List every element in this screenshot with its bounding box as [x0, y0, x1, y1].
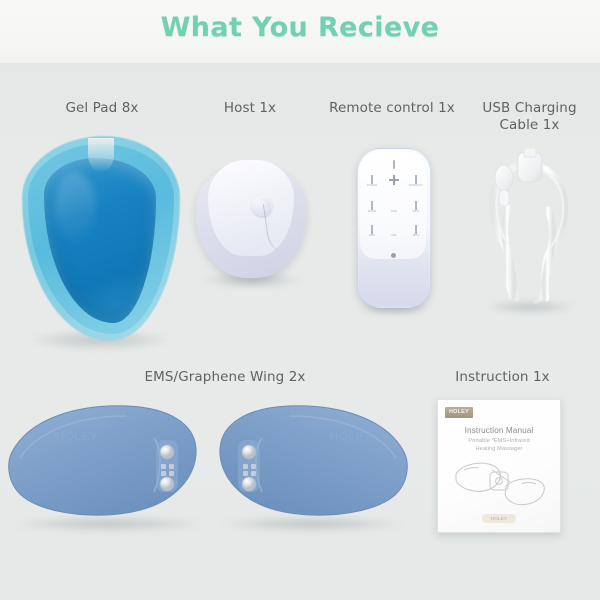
- minus-icon: [384, 225, 404, 234]
- label-host: Host 1x: [182, 100, 318, 117]
- instruction-manual-image: HOLEY Instruction Manual Portable *EMS+I…: [437, 399, 561, 533]
- ems-wing-left-stud-top: [160, 445, 174, 459]
- power-icon: ❙: [362, 175, 382, 184]
- remote-button-grid: ❙ POWER ❙ INTENSITY ❙ MODE TIME ❙: [362, 175, 426, 251]
- remote-indicator-dot-icon: [391, 253, 396, 258]
- gel-pad-highlight: [54, 172, 96, 242]
- remote-button-power-caption: POWER: [362, 184, 382, 188]
- label-usb-cable: USB Charging Cable 1x: [462, 100, 597, 134]
- remote-button-max-caption: MAX: [406, 234, 426, 238]
- manual-cover-illustration: [448, 456, 550, 514]
- plus-icon: [389, 175, 399, 185]
- host-device-image: [196, 160, 306, 280]
- remote-button-intensity: ❙ INTENSITY: [406, 175, 426, 188]
- svg-text:HOLEY: HOLEY: [56, 431, 98, 443]
- remote-button-heat-caption: HEAT: [406, 210, 426, 214]
- product-contents-infographic: What You Recieve Gel Pad 8x Host 1x Remo…: [0, 0, 600, 600]
- ems-wing-right-stud-top: [242, 445, 256, 459]
- svg-text:HOLEY: HOLEY: [330, 431, 372, 443]
- remote-button-mode-caption: MODE: [362, 210, 382, 214]
- manual-footer-badge: HOLEY: [482, 514, 516, 523]
- remote-button-min: MIN: [384, 225, 404, 238]
- remote-power-indicator-icon: [393, 160, 395, 169]
- ems-wing-right: HOLEY: [212, 400, 412, 524]
- remote-button-ems: ❙ EMS: [362, 225, 382, 238]
- manual-subtitle-line2: Heating Massager: [476, 446, 523, 452]
- usb-charging-cable-image: [478, 148, 582, 312]
- gel-pad-notch: [88, 138, 114, 172]
- remote-button-intensity-caption: INTENSITY: [406, 184, 426, 188]
- ems-wing-left-stud-bottom: [160, 477, 174, 491]
- manual-title: Instruction Manual: [438, 426, 560, 435]
- label-instruction: Instruction 1x: [420, 369, 585, 386]
- remote-button-heat: ❙ HEAT: [406, 201, 426, 214]
- intensity-icon: ❙: [406, 175, 426, 184]
- page-title: What You Recieve: [0, 12, 600, 43]
- ems-icon: ❙: [362, 225, 382, 234]
- remote-button-min-caption: MIN: [384, 234, 404, 238]
- label-ems-wing: EMS/Graphene Wing 2x: [60, 369, 390, 386]
- label-gel-pad: Gel Pad 8x: [22, 100, 182, 117]
- mode-icon: ❙: [362, 201, 382, 210]
- heat-icon: ❙: [406, 201, 426, 210]
- time-icon: [384, 201, 404, 210]
- remote-body: ❙ POWER ❙ INTENSITY ❙ MODE TIME ❙: [357, 148, 431, 308]
- remote-button-time-caption: TIME: [384, 210, 404, 214]
- remote-control-image: ❙ POWER ❙ INTENSITY ❙ MODE TIME ❙: [357, 148, 429, 306]
- remote-button-ems-caption: EMS: [362, 234, 382, 238]
- host-front-shell: [208, 160, 294, 256]
- label-remote-control: Remote control 1x: [322, 100, 462, 117]
- remote-button-power: ❙ POWER: [362, 175, 382, 188]
- max-icon: ❙: [406, 225, 426, 234]
- ems-wing-left: HOLEY: [4, 400, 204, 524]
- manual-subtitle: Portable *EMS+Infrared Heating Massager: [438, 438, 560, 453]
- remote-button-mode: ❙ MODE: [362, 201, 382, 214]
- ems-graphene-wings-image: HOLEY: [0, 396, 410, 528]
- device-connector: [495, 165, 513, 191]
- manual-subtitle-line1: Portable *EMS+Infrared: [468, 438, 529, 444]
- host-seam-line: [263, 200, 298, 252]
- ems-wing-right-stud-bottom: [242, 477, 256, 491]
- usb-cable-drawing: [478, 148, 582, 312]
- gel-pad-image: [18, 132, 183, 344]
- manual-brand-badge: HOLEY: [445, 407, 473, 418]
- remote-button-max: ❙ MAX: [406, 225, 426, 238]
- remote-button-time: TIME: [384, 201, 404, 214]
